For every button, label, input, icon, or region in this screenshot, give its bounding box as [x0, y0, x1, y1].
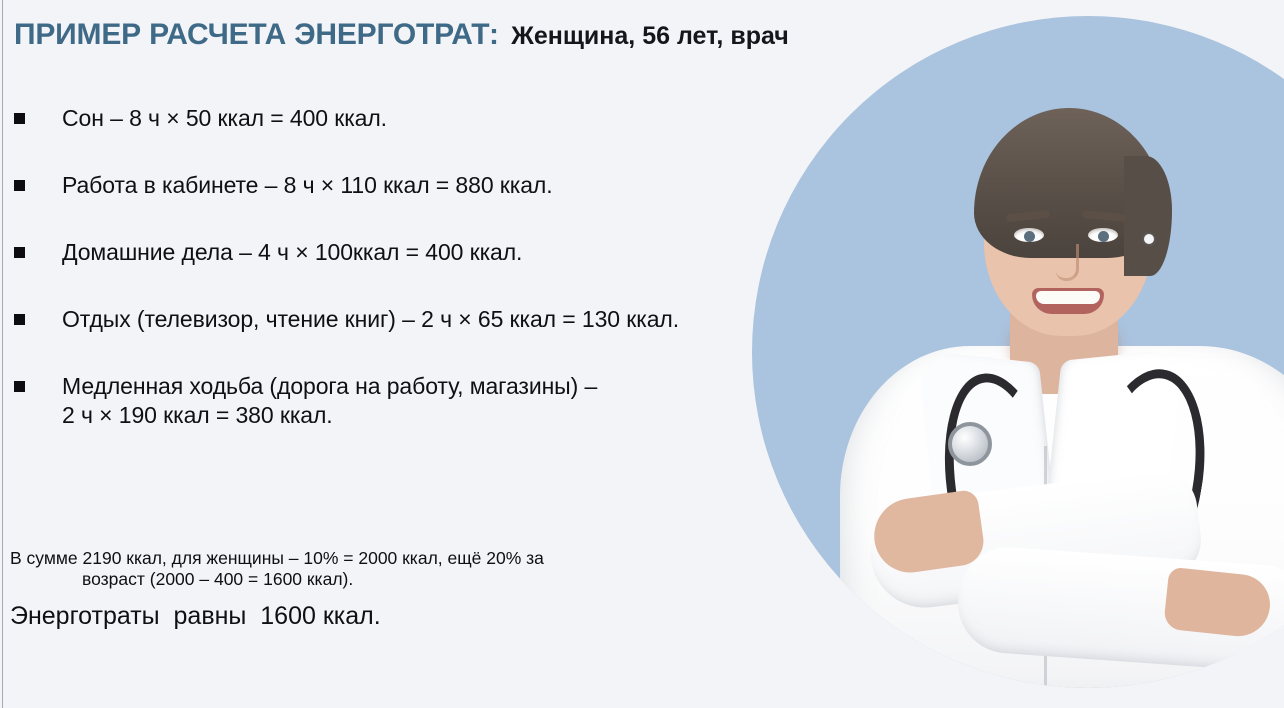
nose-shape — [1056, 244, 1079, 281]
slide-root: ПРИМЕР РАСЧЕТА ЭНЕРГОТРАТ: Женщина, 56 л… — [0, 0, 1284, 708]
square-bullet-icon — [14, 180, 25, 191]
list-item-label: Сон – 8 ч × 50 ккал = 400 ккал. — [62, 105, 387, 131]
title-main-text: ПРИМЕР РАСЧЕТА ЭНЕРГОТРАТ: — [14, 18, 499, 51]
title-subject-text: Женщина, 56 лет, врач — [511, 22, 789, 50]
summary-paragraph: В сумме 2190 ккал, для женщины – 10% = 2… — [10, 548, 726, 590]
list-item: Работа в кабинете – 8 ч × 110 ккал = 880… — [14, 171, 744, 200]
list-item-label: Домашние дела – 4 ч × 100ккал = 400 ккал… — [62, 239, 522, 265]
slide-title: ПРИМЕР РАСЧЕТА ЭНЕРГОТРАТ: Женщина, 56 л… — [14, 18, 844, 52]
list-item-label: Медленная ходьба (дорога на работу, мага… — [62, 373, 597, 428]
total-energy-line: Энерготраты равны 1600 ккал. — [10, 600, 710, 632]
stethoscope-bell-icon — [948, 422, 992, 466]
pupil-left-shape — [1024, 231, 1035, 242]
energy-expenditure-list: Сон – 8 ч × 50 ккал = 400 ккал. Работа в… — [14, 104, 744, 430]
square-bullet-icon — [14, 314, 25, 325]
summary-line-2: возраст (2000 – 400 = 1600 ккал). — [10, 569, 726, 590]
square-bullet-icon — [14, 381, 25, 392]
teeth-shape — [1036, 291, 1100, 304]
list-item-label: Отдых (телевизор, чтение книг) – 2 ч × 6… — [62, 306, 679, 332]
pupil-right-shape — [1098, 231, 1109, 242]
slide-left-rule — [2, 0, 3, 708]
list-item: Сон – 8 ч × 50 ккал = 400 ккал. — [14, 104, 744, 133]
list-item: Домашние дела – 4 ч × 100ккал = 400 ккал… — [14, 238, 744, 267]
list-item-label: Работа в кабинете – 8 ч × 110 ккал = 880… — [62, 172, 553, 198]
hair-side-shape — [1124, 156, 1172, 276]
square-bullet-icon — [14, 113, 25, 124]
mouth-shape — [1032, 288, 1104, 314]
earring-shape — [1144, 234, 1154, 244]
doctor-portrait-illustration — [752, 16, 1284, 688]
list-item: Отдых (телевизор, чтение книг) – 2 ч × 6… — [14, 305, 744, 334]
doctor-photo-circle — [752, 16, 1284, 688]
summary-line-1: В сумме 2190 ккал, для женщины – 10% = 2… — [10, 548, 544, 568]
list-item: Медленная ходьба (дорога на работу, мага… — [14, 372, 744, 430]
square-bullet-icon — [14, 247, 25, 258]
